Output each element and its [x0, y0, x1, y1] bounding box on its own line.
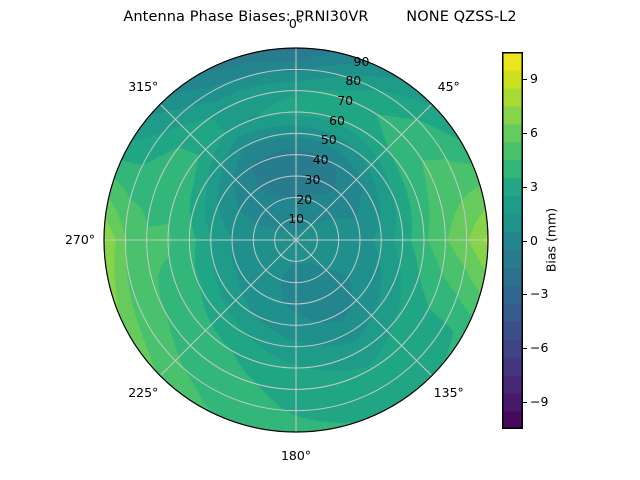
colorbar-axis-label: Bias (mm) [544, 208, 559, 272]
colorbar-tick-label-3: 3 [530, 180, 538, 193]
colorbar-tick-label--9: −9 [530, 396, 548, 409]
angular-tick-315: 315° [128, 81, 158, 94]
colorbar-tick-label-6: 6 [530, 127, 538, 140]
angular-tick-45: 45° [438, 81, 460, 94]
radial-tick-70: 70 [337, 95, 353, 108]
colorbar-tick-mark [523, 348, 527, 349]
figure-canvas: Antenna Phase Biases: PRNI30VR NONE QZSS… [0, 0, 640, 480]
colorbar-tick-label--6: −6 [530, 342, 548, 355]
colorbar-tick-label-9: 9 [530, 73, 538, 86]
angular-tick-135: 135° [434, 386, 464, 399]
colorbar-tick-mark [523, 79, 527, 80]
colorbar-tick-mark [523, 402, 527, 403]
colorbar-tick-mark [523, 187, 527, 188]
radial-tick-10: 10 [288, 213, 304, 226]
page-title: Antenna Phase Biases: PRNI30VR NONE QZSS… [0, 9, 640, 25]
colorbar-tick-label--3: −3 [530, 288, 548, 301]
radial-tick-60: 60 [329, 114, 345, 127]
angular-tick-180: 180° [281, 450, 311, 463]
polar-heatmap-plot [100, 44, 492, 436]
colorbar-gradient [502, 52, 523, 429]
radial-tick-90: 90 [354, 55, 370, 68]
angular-tick-0: 0° [289, 18, 303, 31]
colorbar-tick-mark [523, 133, 527, 134]
angular-tick-270: 270° [65, 234, 95, 247]
radial-tick-50: 50 [321, 134, 337, 147]
colorbar-tick-label-0: 0 [530, 234, 538, 247]
radial-tick-40: 40 [313, 154, 329, 167]
radial-tick-30: 30 [305, 174, 321, 187]
colorbar-tick-mark [523, 294, 527, 295]
colorbar-tick-mark [523, 241, 527, 242]
angular-tick-225: 225° [128, 386, 158, 399]
radial-tick-20: 20 [296, 193, 312, 206]
radial-tick-80: 80 [345, 75, 361, 88]
